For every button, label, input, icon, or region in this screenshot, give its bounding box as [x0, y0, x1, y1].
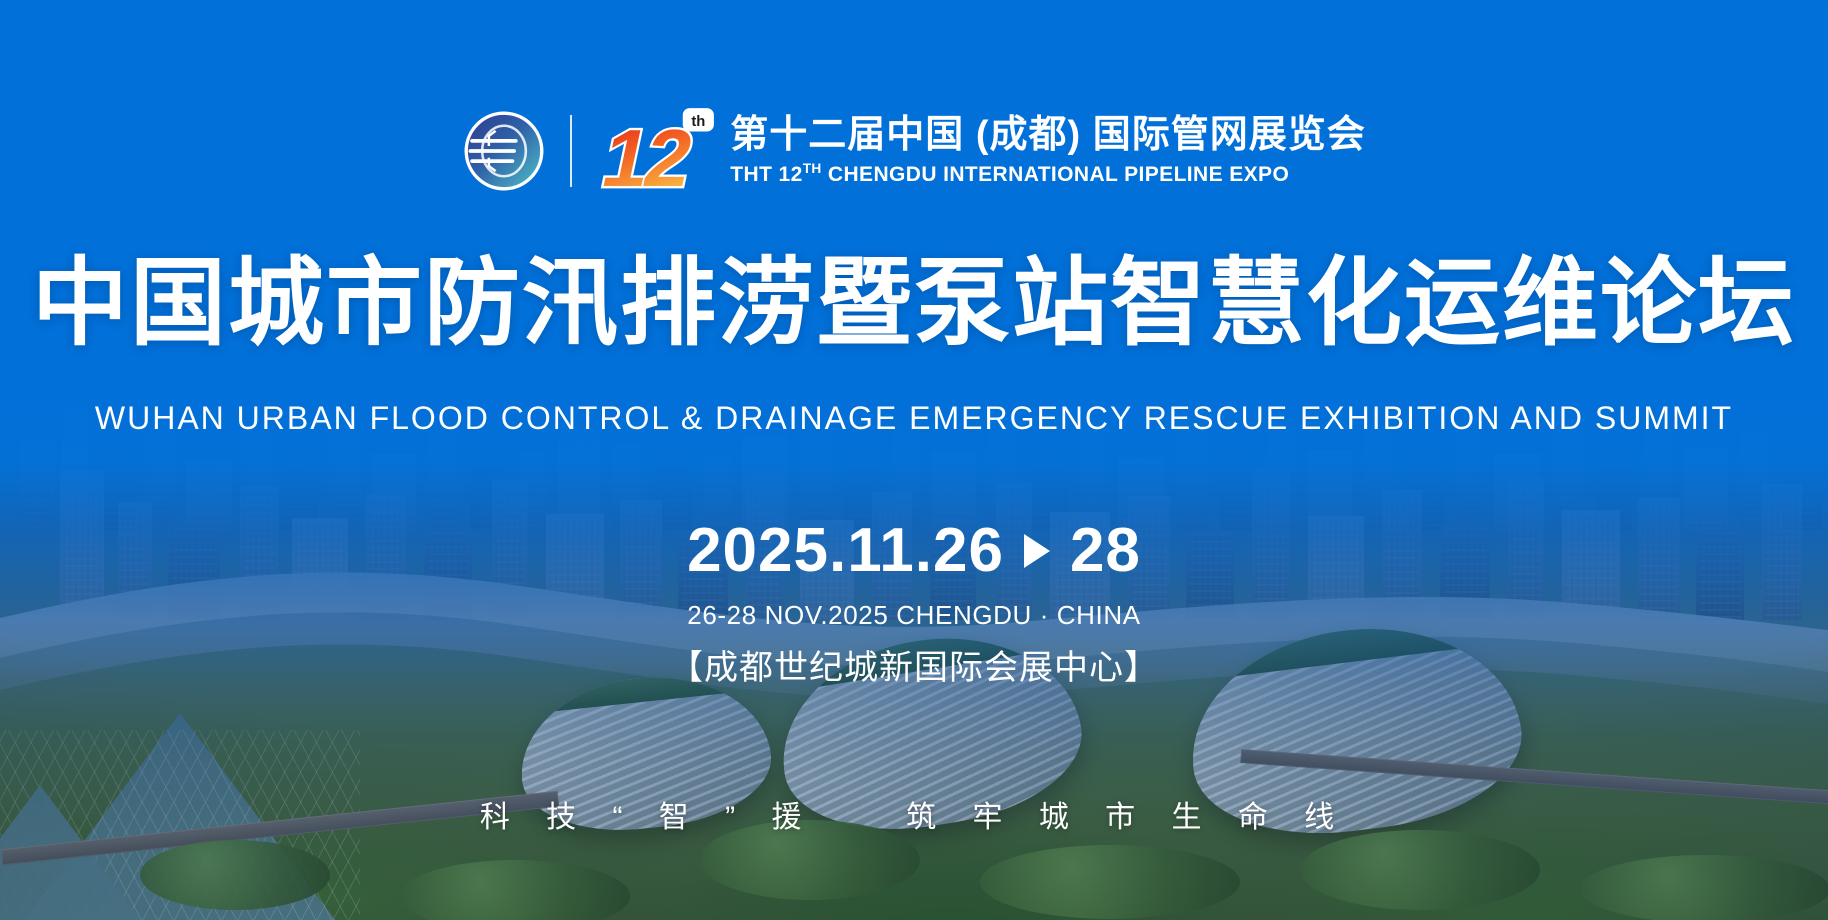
header-text-block: 第十二届中国 (成都) 国际管网展览会 THT 12TH CHENGDU INT…: [730, 114, 1365, 188]
slogan-part-1: 科 技 “ 智 ” 援: [480, 801, 816, 834]
date-end: 28: [1070, 515, 1141, 586]
header-title-en-pre: THT 12: [730, 163, 802, 186]
main-title-en: WUHAN URBAN FLOOD CONTROL & DRAINAGE EME…: [0, 400, 1828, 437]
edition-suffix: th: [692, 114, 706, 130]
edition-number-graphic: 12 th: [598, 105, 716, 197]
pipeline-circle-emblem-icon: [462, 109, 546, 193]
header-title-cn: 第十二届中国 (成都) 国际管网展览会: [730, 114, 1365, 157]
main-title-cn: 中国城市防汛排涝暨泵站智慧化运维论坛: [0, 252, 1828, 356]
slogan-part-2: 筑 牢 城 市 生 命 线: [906, 801, 1348, 834]
lockup-divider: [570, 115, 572, 187]
header-title-en-post: CHENGDU INTERNATIONAL PIPELINE EXPO: [822, 163, 1290, 186]
header-title-en: THT 12TH CHENGDU INTERNATIONAL PIPELINE …: [730, 160, 1365, 188]
banner-content: 12 th 第十二届中国 (成都) 国际管网展览会 THT 12TH CHENG…: [0, 0, 1828, 920]
date-primary: 2025.11.26 28: [0, 515, 1828, 586]
header-lockup: 12 th 第十二届中国 (成都) 国际管网展览会 THT 12TH CHENG…: [0, 105, 1828, 197]
bottom-slogan: 科 技 “ 智 ” 援 筑 牢 城 市 生 命 线: [0, 792, 1828, 836]
date-start: 2025.11.26: [687, 515, 1004, 586]
header-title-en-sup: TH: [803, 161, 822, 176]
expo-banner: 12 th 第十二届中国 (成都) 国际管网展览会 THT 12TH CHENG…: [0, 0, 1828, 920]
triangle-right-icon: [1024, 534, 1050, 568]
venue-name: 【成都世纪城新国际会展中心】: [0, 640, 1828, 689]
date-secondary: 26-28 NOV.2025 CHENGDU · CHINA: [0, 600, 1828, 631]
